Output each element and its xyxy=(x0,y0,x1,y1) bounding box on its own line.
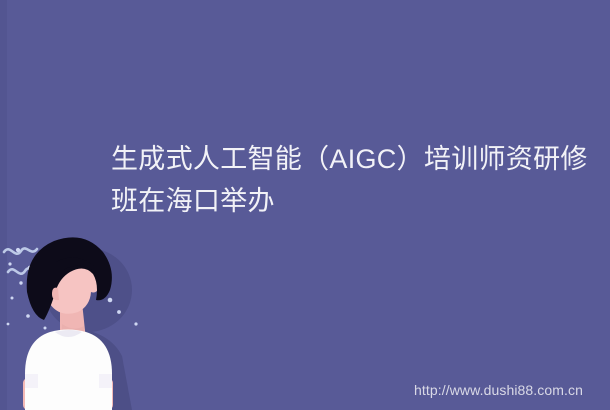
t-shirt xyxy=(23,330,113,410)
page-title: 生成式人工智能（AIGC）培训师资研修班在海口举办 xyxy=(111,138,591,222)
person-illustration-svg xyxy=(0,228,185,410)
article-cover-card: 生成式人工智能（AIGC）培训师资研修班在海口举办 http://www.dus… xyxy=(0,0,610,410)
watermark-url: http://www.dushi88.com.cn xyxy=(414,381,583,399)
person-illustration xyxy=(0,228,185,410)
